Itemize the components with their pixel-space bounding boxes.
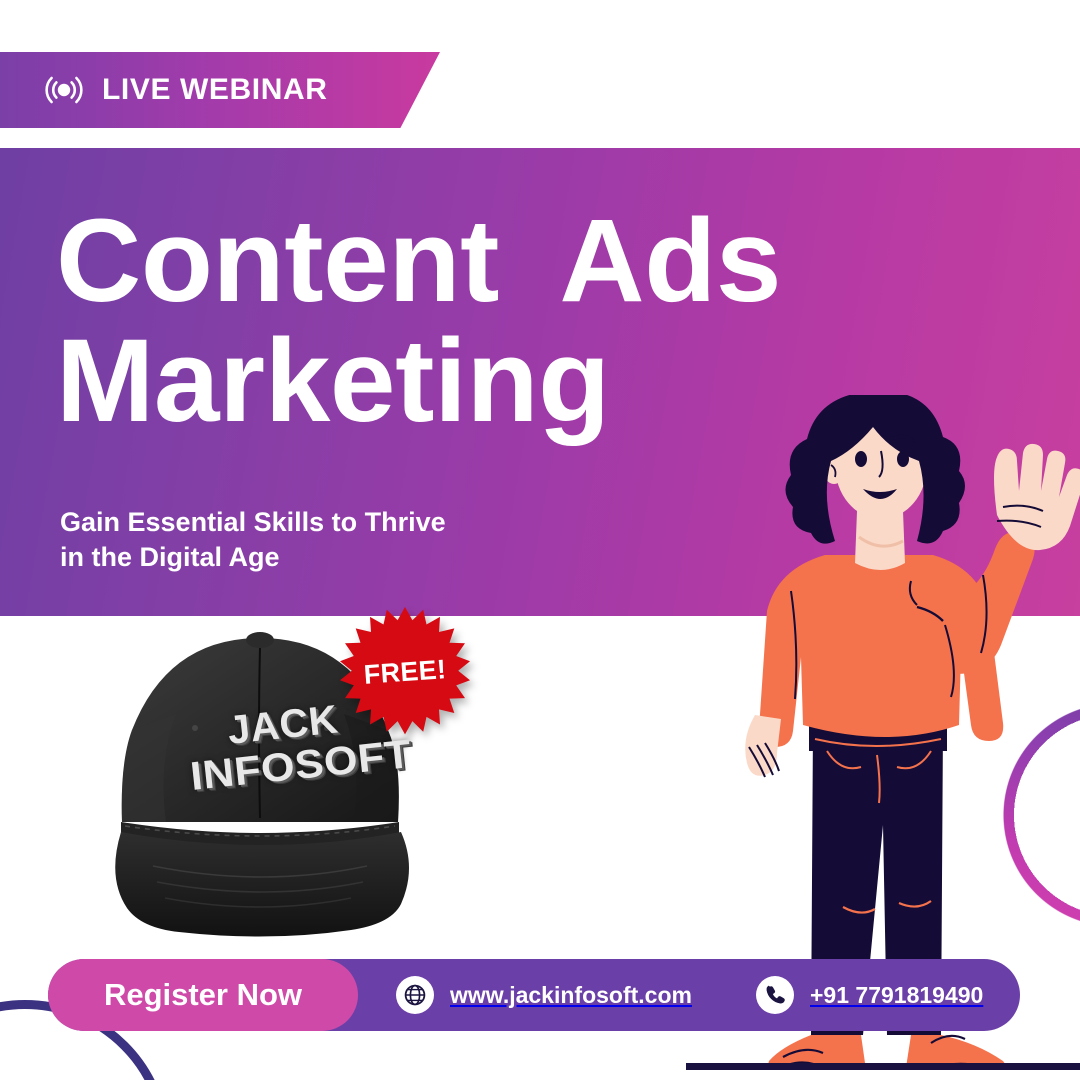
headline-line-2: Marketing — [56, 327, 781, 437]
free-badge: FREE! — [340, 607, 470, 737]
website-text: www.jackinfosoft.com — [450, 982, 692, 1009]
subtitle-line-2: in the Digital Age — [60, 540, 446, 575]
live-webinar-label: LIVE WEBINAR — [102, 73, 328, 107]
live-broadcast-icon — [44, 70, 84, 110]
ground-line — [686, 1063, 1080, 1070]
phone-text: +91 7791819490 — [810, 982, 983, 1009]
footer-bar: Register Now www.jackinfosoft.com — [48, 959, 1020, 1031]
register-now-button[interactable]: Register Now — [48, 959, 358, 1031]
subtitle: Gain Essential Skills to Thrive in the D… — [60, 505, 446, 575]
phone-icon — [756, 976, 794, 1014]
page-title: Content Ads Marketing — [56, 207, 781, 436]
phone-link[interactable]: +91 7791819490 — [756, 976, 983, 1014]
webinar-poster: LIVE WEBINAR Content Ads Marketing Gain … — [0, 0, 1080, 1080]
live-webinar-ribbon: LIVE WEBINAR — [0, 52, 440, 128]
globe-icon — [396, 976, 434, 1014]
website-link[interactable]: www.jackinfosoft.com — [396, 976, 692, 1014]
headline-line-1: Content Ads — [56, 207, 781, 317]
subtitle-line-1: Gain Essential Skills to Thrive — [60, 505, 446, 540]
